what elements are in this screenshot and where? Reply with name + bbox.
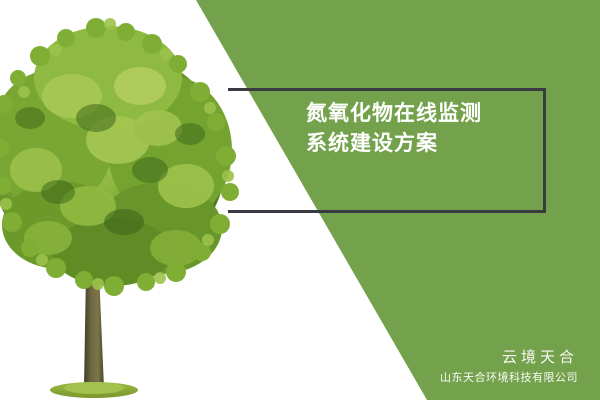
brand-company-name: 山东天合环境科技有限公司 (440, 368, 578, 388)
title-line-1: 氮氧化物在线监测 (306, 98, 546, 128)
brand-name: 云境天合 (440, 346, 578, 368)
page-title: 氮氧化物在线监测 系统建设方案 (306, 98, 546, 158)
brand-block: 云境天合 山东天合环境科技有限公司 (440, 346, 578, 388)
title-line-2: 系统建设方案 (306, 128, 546, 158)
presentation-title-slide: 氮氧化物在线监测 系统建设方案 云境天合 山东天合环境科技有限公司 (0, 0, 600, 400)
deciduous-tree-illustration (0, 0, 250, 400)
